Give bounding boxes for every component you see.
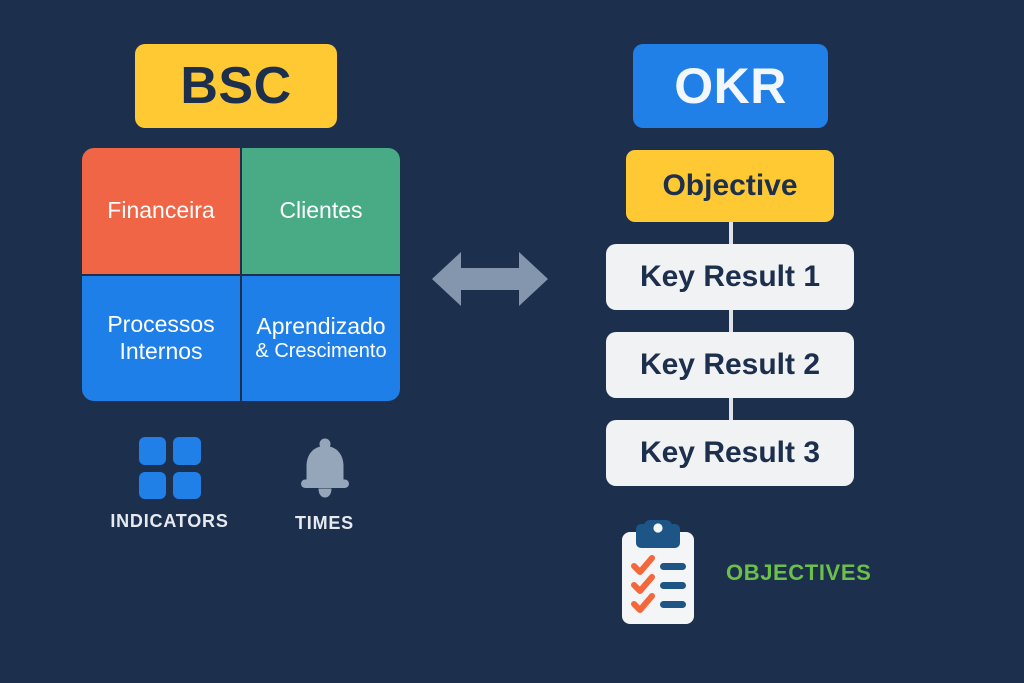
connector-line <box>729 398 733 420</box>
grid-icon <box>139 437 201 499</box>
clipboard-wrapper <box>606 520 710 626</box>
clipboard-checklist-icon <box>618 520 698 626</box>
quadrant-aprendizado-text: Aprendizado & Crescimento <box>255 313 386 364</box>
okr-title-label: OKR <box>674 57 787 115</box>
okr-objective-label: Objective <box>662 169 797 203</box>
quadrant-aprendizado-crescimento[interactable]: Aprendizado & Crescimento <box>242 276 400 402</box>
grid-icon-cell <box>173 472 201 500</box>
quadrant-processos-line1: Processos <box>107 311 214 337</box>
okr-section: OKR Objective Key Result 1 Key Result 2 … <box>606 44 856 486</box>
quadrant-financeira-label: Financeira <box>107 197 214 224</box>
legend-label-indicators: INDICATORS <box>110 511 228 532</box>
okr-footer: OBJECTIVES <box>606 520 906 626</box>
diagram-canvas: BSC Financeira Clientes Processos Intern… <box>0 0 1024 683</box>
quadrant-processos-line2: Internos <box>119 338 202 364</box>
key-result-box-1[interactable]: Key Result 1 <box>606 244 854 310</box>
connector-line <box>729 222 733 244</box>
key-result-box-2[interactable]: Key Result 2 <box>606 332 854 398</box>
quadrant-processos-text: Processos Internos <box>107 311 214 365</box>
quadrant-clientes-label: Clientes <box>279 197 362 224</box>
key-result-box-3[interactable]: Key Result 3 <box>606 420 854 486</box>
legend-label-times: TIMES <box>295 513 354 534</box>
quadrant-aprendizado-line2: & Crescimento <box>255 340 386 364</box>
key-result-label-3: Key Result 3 <box>640 436 820 470</box>
quadrant-financeira[interactable]: Financeira <box>82 148 240 274</box>
grid-icon-cell <box>139 472 167 500</box>
legend-item-times: TIMES <box>257 437 392 534</box>
bell-icon <box>293 437 357 501</box>
double-headed-arrow-icon <box>432 248 548 310</box>
bsc-section: BSC Financeira Clientes Processos Intern… <box>82 44 400 401</box>
bsc-title-label: BSC <box>180 56 291 116</box>
okr-title-pill: OKR <box>633 44 828 128</box>
key-result-label-2: Key Result 2 <box>640 348 820 382</box>
bsc-legend: INDICATORS TIMES <box>82 437 400 534</box>
bsc-title-pill: BSC <box>135 44 337 128</box>
connector-line <box>729 310 733 332</box>
legend-item-indicators: INDICATORS <box>82 437 257 532</box>
quadrant-aprendizado-line1: Aprendizado <box>256 313 385 339</box>
grid-icon-cell <box>139 437 167 465</box>
key-result-label-1: Key Result 1 <box>640 260 820 294</box>
grid-icon-cell <box>173 437 201 465</box>
objectives-label: OBJECTIVES <box>726 560 871 586</box>
quadrant-processos-internos[interactable]: Processos Internos <box>82 276 240 402</box>
quadrant-clientes[interactable]: Clientes <box>242 148 400 274</box>
okr-objective-box[interactable]: Objective <box>626 150 834 222</box>
bsc-perspectives-grid: Financeira Clientes Processos Internos A… <box>82 148 400 401</box>
